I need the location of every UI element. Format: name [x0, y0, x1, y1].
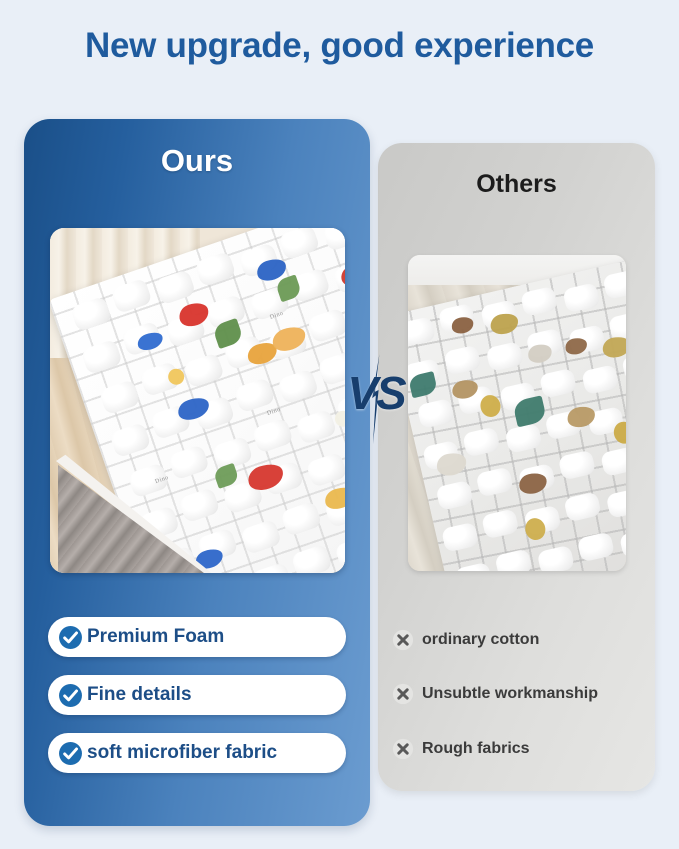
feature-label: soft microfiber fabric [87, 742, 277, 764]
drawback-row-rough-fabrics[interactable]: Rough fabrics [392, 738, 530, 760]
feature-pill-soft-microfiber-fabric[interactable]: soft microfiber fabric [48, 733, 346, 773]
others-panel-title: Others [378, 170, 655, 199]
x-circle-icon [392, 629, 414, 651]
drawback-label: ordinary cotton [422, 631, 539, 649]
check-circle-icon [58, 683, 83, 708]
x-circle-icon [392, 683, 414, 705]
x-circle-icon [392, 738, 414, 760]
feature-pill-fine-details[interactable]: Fine details [48, 675, 346, 715]
ours-panel: Ours [24, 119, 370, 826]
ours-product-photo: Dino Dino Dino [50, 228, 345, 573]
drawback-row-ordinary-cotton[interactable]: ordinary cotton [392, 629, 539, 651]
mattress-pad-others [408, 257, 626, 571]
drawback-label: Rough fabrics [422, 740, 530, 758]
check-circle-icon [58, 625, 83, 650]
vs-label: VS [334, 366, 418, 420]
page-title: New upgrade, good experience [0, 26, 679, 66]
dino-word-print: Dino [266, 407, 281, 417]
drawback-label: Unsubtle workmanship [422, 685, 598, 703]
vs-badge: VS [334, 352, 418, 444]
feature-label: Fine details [87, 684, 192, 706]
check-circle-icon [58, 741, 83, 766]
others-panel: Others [378, 143, 655, 791]
drawback-row-unsubtle-workmanship[interactable]: Unsubtle workmanship [392, 683, 598, 705]
feature-pill-premium-foam[interactable]: Premium Foam [48, 617, 346, 657]
ours-panel-title: Ours [24, 143, 370, 179]
others-product-photo [408, 255, 626, 571]
animal-motif-olive-2 [601, 334, 626, 360]
feature-label: Premium Foam [87, 626, 224, 648]
